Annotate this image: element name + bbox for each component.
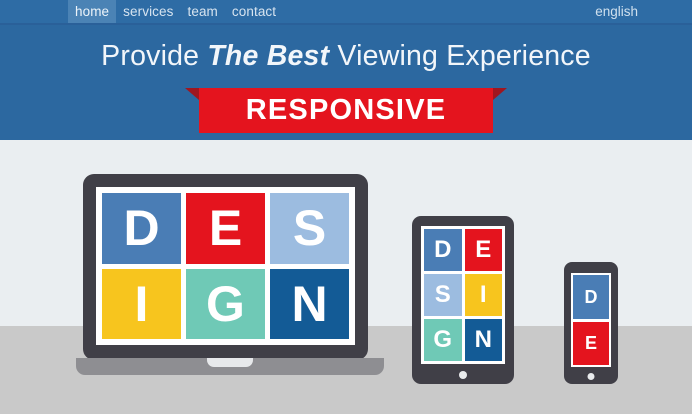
laptop-device: D E S I G N: [76, 174, 384, 386]
phone-screen: D E: [571, 273, 611, 367]
page-title-before: Provide: [101, 40, 207, 72]
ribbon-fold-left: [185, 88, 199, 100]
nav-item-home[interactable]: home: [68, 0, 116, 23]
tablet-device: D E S I G N: [412, 216, 514, 384]
language-selector-label: english: [595, 4, 638, 19]
nav-item-contact[interactable]: contact: [225, 0, 283, 23]
tile-e: E: [186, 193, 265, 264]
tablet-tile-grid: D E S I G N: [424, 229, 502, 361]
tile-i: I: [465, 274, 503, 316]
tile-i: I: [102, 269, 181, 340]
page-title-after: Viewing Experience: [329, 40, 591, 72]
tile-e: E: [573, 322, 609, 366]
ribbon-body: RESPONSIVE: [199, 88, 493, 133]
ribbon-fold-right: [493, 88, 507, 100]
tile-s: S: [424, 274, 462, 316]
nav-item-services[interactable]: services: [116, 0, 180, 23]
nav-menu: home services team contact: [68, 0, 283, 23]
laptop-trackpad-notch: [207, 358, 253, 367]
nav-item-contact-label: contact: [232, 4, 276, 19]
tablet-screen: D E S I G N: [421, 226, 505, 364]
tile-d: D: [424, 229, 462, 271]
page-title-emphasis: The Best: [207, 40, 329, 72]
tile-d: D: [102, 193, 181, 264]
tile-d: D: [573, 275, 609, 319]
responsive-design-banner: home services team contact english Provi…: [0, 0, 692, 414]
tile-g: G: [186, 269, 265, 340]
ribbon-label: RESPONSIVE: [246, 94, 447, 127]
responsive-ribbon: RESPONSIVE: [185, 88, 507, 140]
phone-device: D E: [564, 262, 618, 384]
phone-tile-grid: D E: [573, 275, 609, 365]
tile-n: N: [465, 319, 503, 361]
nav-item-home-label: home: [75, 4, 109, 19]
nav-item-team[interactable]: team: [180, 0, 224, 23]
laptop-screen: D E S I G N: [96, 187, 355, 345]
tile-g: G: [424, 319, 462, 361]
nav-item-team-label: team: [187, 4, 217, 19]
laptop-tile-grid: D E S I G N: [102, 193, 349, 339]
tile-n: N: [270, 269, 349, 340]
laptop-lid: D E S I G N: [83, 174, 368, 360]
tile-s: S: [270, 193, 349, 264]
language-selector[interactable]: english: [595, 0, 638, 23]
nav-item-services-label: services: [123, 4, 173, 19]
phone-home-button[interactable]: [588, 373, 595, 380]
tile-e: E: [465, 229, 503, 271]
header: home services team contact english Provi…: [0, 0, 692, 140]
phone-body: D E: [564, 262, 618, 384]
navbar-divider: [0, 23, 692, 25]
tablet-body: D E S I G N: [412, 216, 514, 384]
page-title: Provide The Best Viewing Experience: [0, 40, 692, 73]
tablet-home-button[interactable]: [459, 371, 467, 379]
